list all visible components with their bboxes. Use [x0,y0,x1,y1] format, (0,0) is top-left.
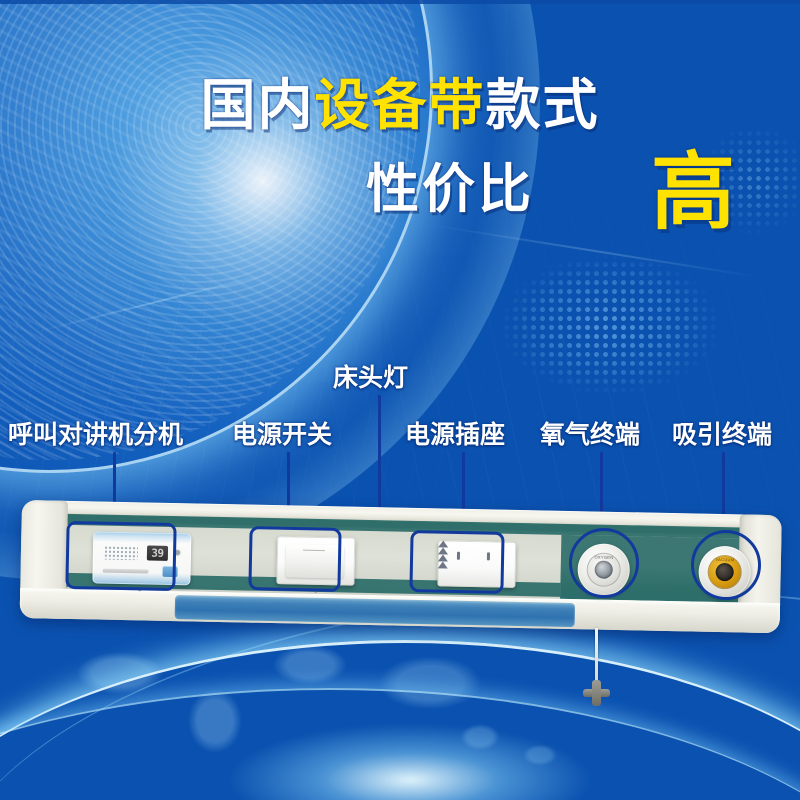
highlight-box-intercom [65,521,176,591]
callout-label-oxygen: 氧气终端 [540,415,640,451]
top-edge-band [0,0,800,4]
highlight-box-power-switch [248,526,341,592]
highlight-circle-oxygen [569,528,639,598]
headline-part-3: 款式 [486,78,600,133]
emphasis-word: 高 [651,150,735,234]
headline: 国内设备带款式 [0,78,800,133]
subheadline: 性价比 [300,163,600,216]
callout-label-bed-lamp: 床头灯 [333,358,408,394]
callout-label-suction: 吸引终端 [672,415,772,451]
highlight-circle-suction [691,530,761,600]
highlight-box-power-socket [409,530,504,594]
headline-part-2: 设备带 [314,78,485,133]
pull-cord-handle[interactable] [583,680,610,706]
cord-handle-cross-v [592,680,601,706]
callout-label-intercom: 呼叫对讲机分机 [8,415,183,451]
callout-label-power-socket: 电源插座 [405,415,505,451]
headline-part-1: 国内 [200,78,314,133]
callout-label-power-switch: 电源开关 [232,415,332,451]
promo-image: 国内设备带款式 性价比 高 呼叫对讲机分机 电源开关 床头灯 电源插座 氧气终端… [0,0,800,800]
